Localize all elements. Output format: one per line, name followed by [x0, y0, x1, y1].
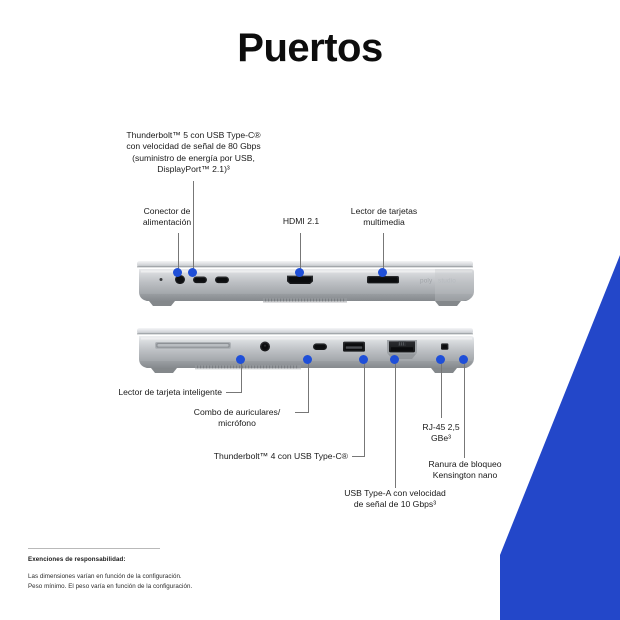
leader-thunderbolt4-h [352, 456, 365, 457]
laptop-rear-edge-view: poly studio [135, 258, 475, 313]
callout-label-smart-card-reader: Lector de tarjeta inteligente [66, 387, 222, 398]
footer-heading: Exenciones de responsabilidad: [28, 556, 126, 563]
laptop-side-edge-view [135, 325, 475, 380]
callout-label-rj45: RJ-45 2,5 GBe³ [399, 422, 483, 445]
leader-rj45-v [441, 360, 442, 418]
leader-usb-type-a-v [395, 360, 396, 488]
page-title: Puertos [0, 28, 620, 68]
leader-headphone-combo-v [308, 360, 309, 412]
port-smart-card-reader [155, 342, 231, 349]
callout-label-power-connector: Conector de alimentación [112, 206, 222, 229]
port-headphone-combo [260, 342, 270, 352]
leader-media-card-reader [383, 233, 384, 273]
port-kensington-lock [441, 343, 448, 349]
footer-body: Las dimensiones varían en función de la … [28, 572, 192, 591]
port-thunderbolt4 [313, 343, 327, 350]
callout-dot-rj45 [436, 355, 445, 364]
callout-dot-smart-card-reader [236, 355, 245, 364]
ports-diagram-page: Puertos [0, 0, 620, 620]
leader-power-connector [178, 233, 179, 273]
callout-dot-headphone-combo [303, 355, 312, 364]
leader-headphone-combo-h [295, 412, 309, 413]
port-thunderbolt5-2 [215, 277, 229, 284]
callout-dot-media-card-reader [378, 268, 387, 277]
callout-dot-thunderbolt5 [188, 268, 197, 277]
callout-label-kensington: Ranura de bloqueo Kensington nano [398, 459, 532, 482]
footer-divider [28, 548, 160, 549]
leader-smart-card-reader-v [241, 360, 242, 392]
callout-dot-thunderbolt4 [359, 355, 368, 364]
callout-dot-kensington [459, 355, 468, 364]
leader-thunderbolt4-v [364, 360, 365, 456]
callout-label-usb-type-a: USB Type-A con velocidad de señal de 10 … [307, 488, 483, 511]
svg-text:studio: studio [438, 278, 456, 285]
callout-dot-hdmi [295, 268, 304, 277]
callout-label-media-card-reader: Lector de tarjetas multimedia [314, 206, 454, 229]
blue-accent-wedge [500, 255, 620, 620]
leader-smart-card-reader-h [226, 392, 242, 393]
callout-dot-usb-type-a [390, 355, 399, 364]
callout-label-headphone-combo: Combo de auriculares/ micrófono [182, 407, 292, 430]
port-usb-type-a [343, 342, 365, 352]
leader-hdmi [300, 233, 301, 273]
port-media-card-reader [367, 276, 399, 283]
callout-label-thunderbolt4: Thunderbolt™ 4 con USB Type-C® [178, 451, 348, 462]
svg-text:poly: poly [420, 278, 433, 285]
port-thunderbolt5-1 [193, 277, 207, 284]
callout-dot-power-connector [173, 268, 182, 277]
callout-label-thunderbolt5: Thunderbolt™ 5 con USB Type-C® con veloc… [96, 130, 291, 175]
